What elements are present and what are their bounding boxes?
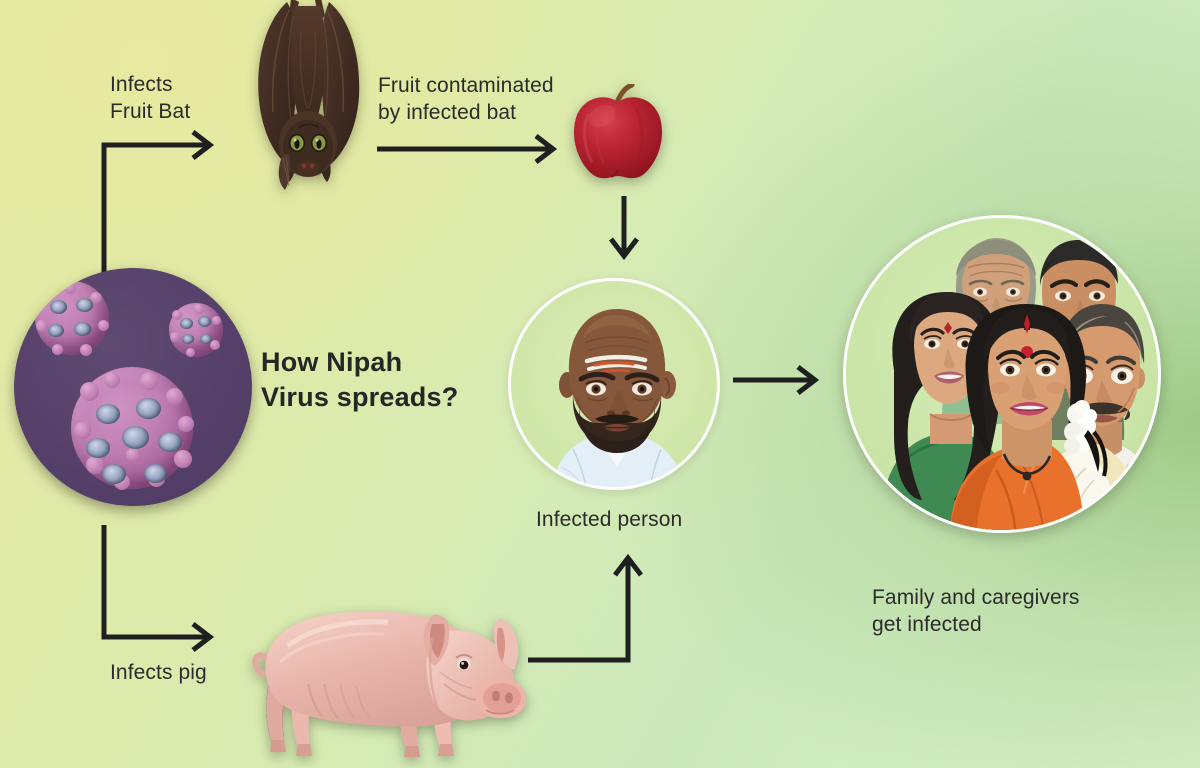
arrow-virus-to-pig — [98, 525, 223, 650]
label-infects-pig: Infects pig — [110, 660, 207, 687]
family-and-caregivers-portrait — [843, 215, 1161, 533]
arrow-bat-to-apple — [377, 133, 559, 165]
nipah-virus-particles — [14, 268, 252, 506]
label-family-and-caregivers: Family and caregivers get infected — [872, 585, 1080, 639]
label-infected-person: Infected person — [536, 507, 682, 534]
arrow-virus-to-fruit-bat — [98, 135, 223, 280]
nipah-virus-spread-infographic: Infects Fruit Bat Fruit contaminated by … — [0, 0, 1200, 768]
infected-person-portrait — [508, 278, 720, 490]
infected-pig-illustration — [248, 588, 536, 758]
label-infects-fruit-bat: Infects Fruit Bat — [110, 72, 190, 126]
contaminated-apple-illustration — [566, 84, 670, 184]
arrow-person-to-family — [733, 364, 825, 396]
page-title: How Nipah Virus spreads? — [261, 345, 458, 415]
fruit-bat-illustration — [243, 0, 373, 192]
label-fruit-contaminated: Fruit contaminated by infected bat — [378, 73, 554, 127]
arrow-pig-to-person — [528, 552, 640, 670]
arrow-apple-to-person — [607, 196, 641, 264]
